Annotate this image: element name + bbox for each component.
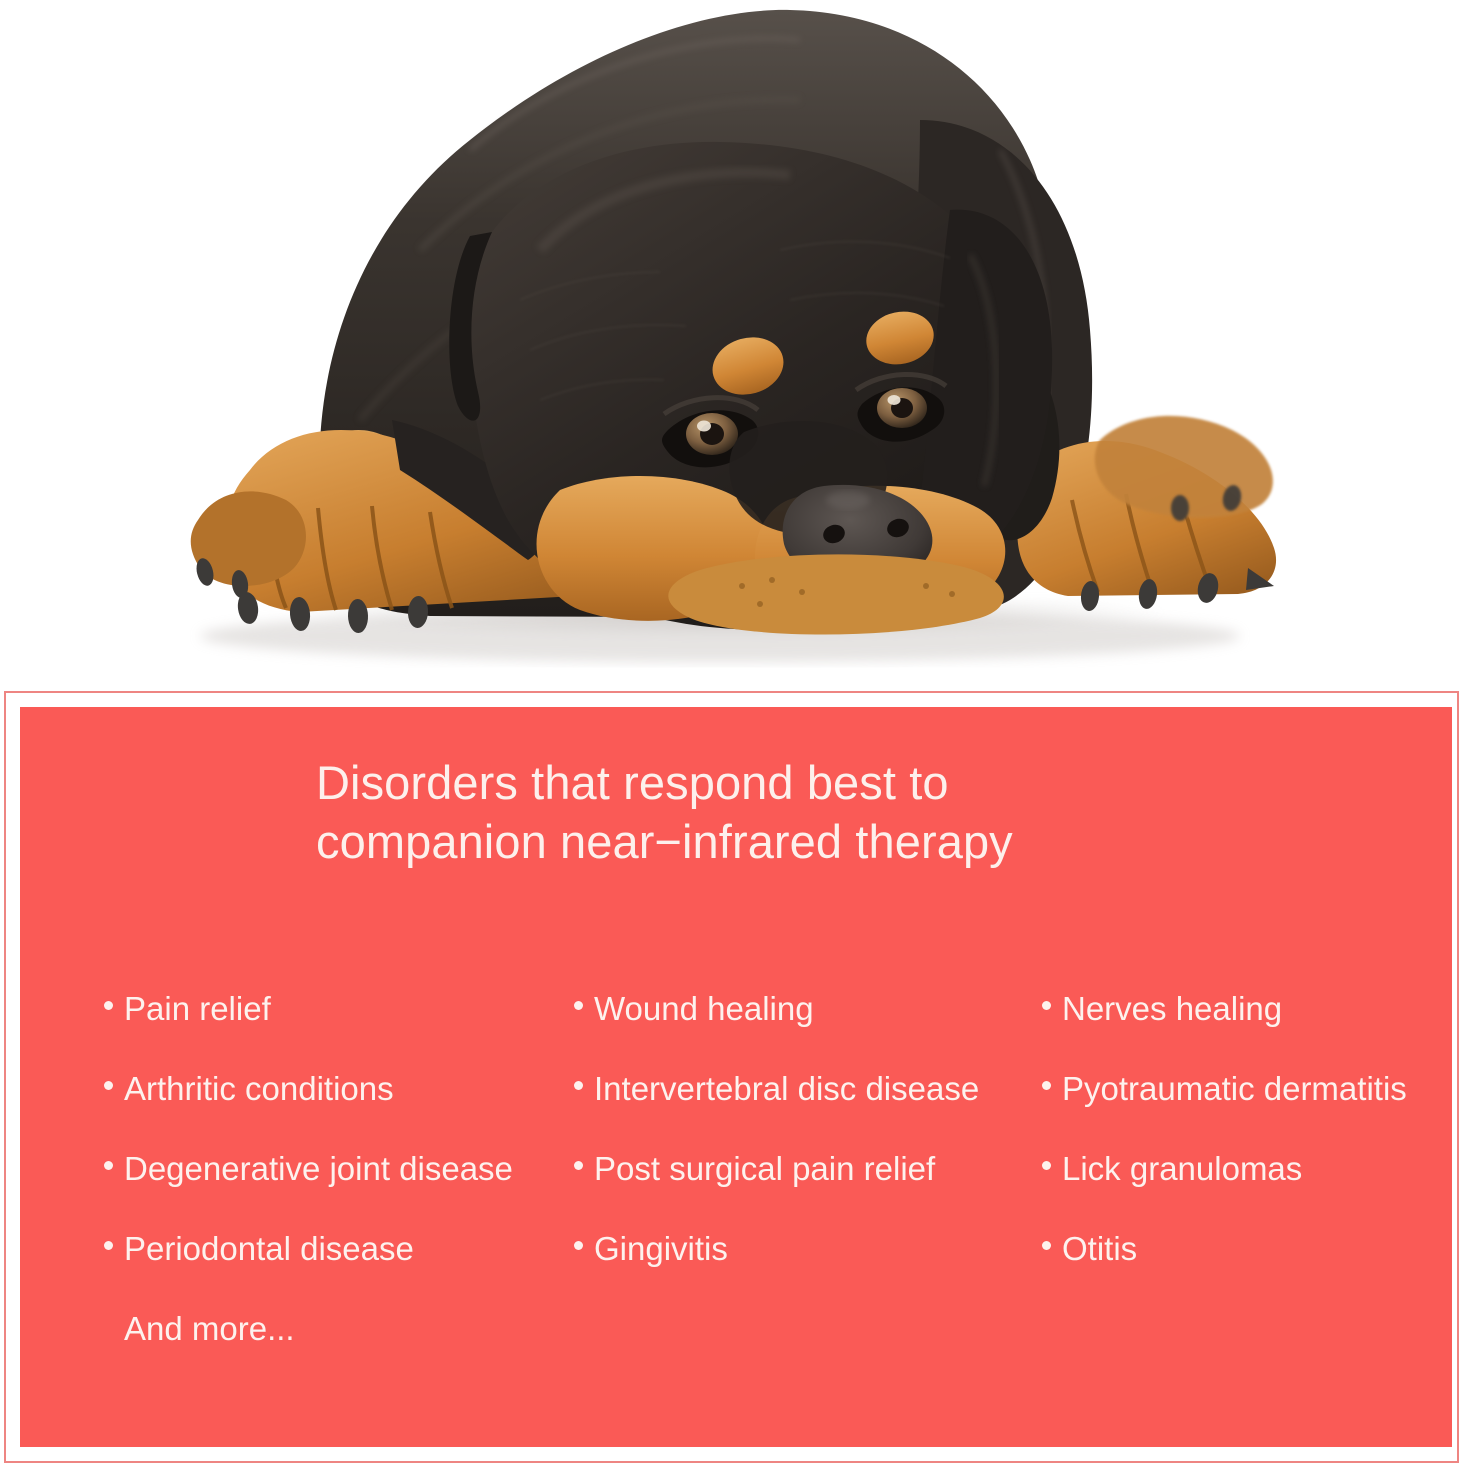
list-item-label: Arthritic conditions: [124, 1069, 394, 1109]
list-item-label: Gingivitis: [594, 1229, 728, 1269]
list-item: Nerves healing: [1030, 989, 1464, 1069]
disorder-column-3: Nerves healing Pyotraumatic dermatitis L…: [1030, 989, 1464, 1309]
bullet-icon: [104, 1161, 113, 1170]
list-item: Post surgical pain relief: [562, 1149, 1032, 1229]
rottweiler-photo: [0, 0, 1464, 690]
list-item: Otitis: [1030, 1229, 1464, 1309]
list-item-label: Intervertebral disc disease: [594, 1069, 979, 1109]
list-item-label: Periodontal disease: [124, 1229, 414, 1269]
dog-illustration: [0, 0, 1464, 690]
bullet-icon: [574, 1001, 583, 1010]
disorder-column-2: Wound healing Intervertebral disc diseas…: [562, 989, 1032, 1309]
list-item-label: Otitis: [1062, 1229, 1137, 1269]
list-item-label: Lick granulomas: [1062, 1149, 1302, 1189]
bullet-icon: [1042, 1001, 1051, 1010]
list-item-label: Post surgical pain relief: [594, 1149, 935, 1189]
list-item: Intervertebral disc disease: [562, 1069, 1032, 1149]
bullet-icon: [1042, 1081, 1051, 1090]
disorder-column-1: Pain relief Arthritic conditions Degener…: [92, 989, 562, 1389]
bullet-icon: [574, 1081, 583, 1090]
dog-photo-area: [0, 0, 1464, 690]
disorder-columns: Pain relief Arthritic conditions Degener…: [20, 989, 1452, 1389]
list-item: Periodontal disease: [92, 1229, 562, 1309]
bullet-icon: [1042, 1241, 1051, 1250]
bullet-icon: [1042, 1161, 1051, 1170]
list-item-label: Degenerative joint disease: [124, 1149, 513, 1189]
list-item: Lick granulomas: [1030, 1149, 1464, 1229]
bullet-icon: [574, 1161, 583, 1170]
disorders-info-panel: Disorders that respond best to companion…: [4, 691, 1459, 1463]
list-item-label: And more...: [124, 1309, 295, 1349]
panel-title: Disorders that respond best to companion…: [316, 753, 1316, 871]
bullet-icon: [104, 1081, 113, 1090]
list-item-label: Pyotraumatic dermatitis: [1062, 1069, 1407, 1109]
list-item: Pyotraumatic dermatitis: [1030, 1069, 1464, 1149]
list-item-label: Pain relief: [124, 989, 271, 1029]
list-item: Pain relief: [92, 989, 562, 1069]
list-item: Wound healing: [562, 989, 1032, 1069]
bullet-icon: [104, 1241, 113, 1250]
list-item-label: Wound healing: [594, 989, 814, 1029]
list-item-and-more: And more...: [92, 1309, 562, 1389]
list-item-label: Nerves healing: [1062, 989, 1282, 1029]
info-panel-surface: Disorders that respond best to companion…: [20, 707, 1452, 1447]
list-item: Gingivitis: [562, 1229, 1032, 1309]
list-item: Arthritic conditions: [92, 1069, 562, 1149]
list-item: Degenerative joint disease: [92, 1149, 562, 1229]
bullet-icon: [104, 1001, 113, 1010]
bullet-icon: [574, 1241, 583, 1250]
